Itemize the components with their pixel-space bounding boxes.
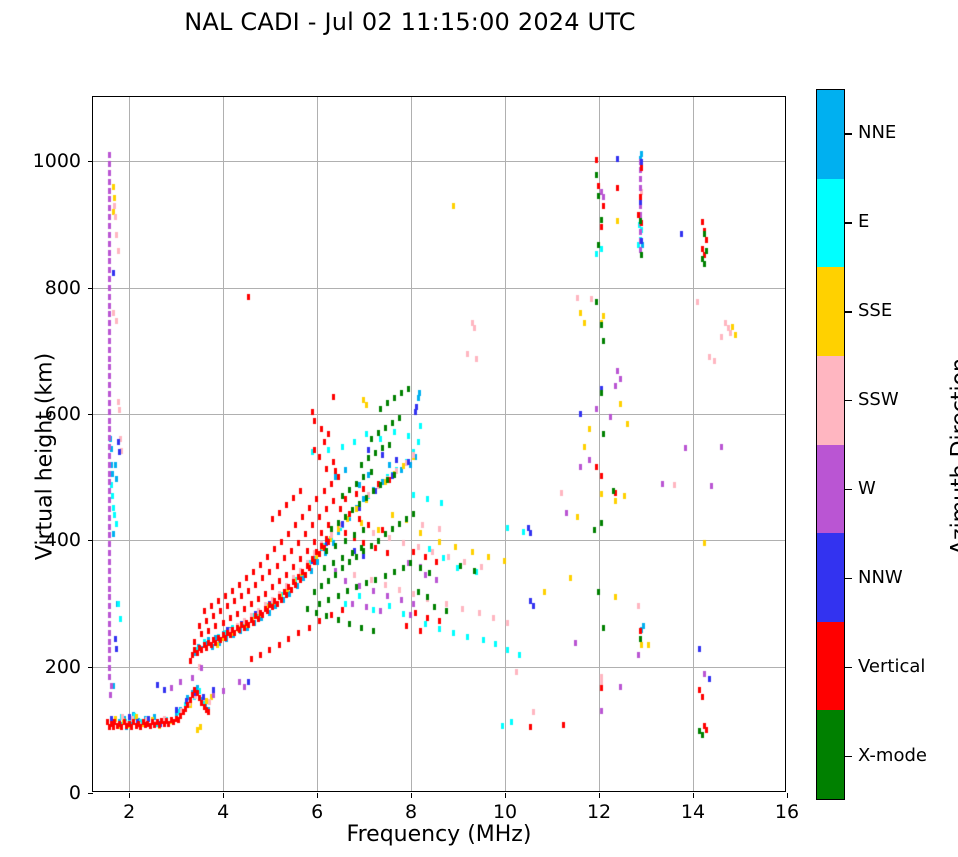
y-tick-label: 0 [0,784,81,803]
x-tick-mark [129,793,130,798]
colorbar-band-sse[interactable] [817,267,844,356]
colorbar-label-e: E [858,211,869,232]
colorbar-label-nnw: NNW [858,567,903,588]
colorbar-band-x-mode[interactable] [817,710,844,799]
colorbar-tick-mark [845,311,852,312]
y-tick-mark [88,161,93,162]
y-tick-label: 1000 [0,152,81,171]
x-tick-label: 4 [193,801,253,823]
y-tick-mark [88,793,93,794]
colorbar-tick-mark [845,667,852,668]
x-tick-mark [411,793,412,798]
colorbar-label-ssw: SSW [858,389,899,410]
x-tick-label: 8 [381,801,441,823]
colorbar-tick-mark [845,133,852,134]
page-title: NAL CADI - Jul 02 11:15:00 2024 UTC [0,8,820,36]
y-tick-mark [88,540,93,541]
x-tick-label: 6 [287,801,347,823]
x-tick-mark [223,793,224,798]
colorbar-label-nne: NNE [858,122,896,143]
y-tick-label: 200 [0,658,81,677]
colorbar-tick-mark [845,222,852,223]
colorbar-tick-mark [845,400,852,401]
colorbar-label-w: W [858,478,876,499]
scatter-data-canvas [93,97,787,793]
x-tick-label: 10 [475,801,535,823]
colorbar-title: Azimuth Direction [948,287,958,627]
colorbar-tick-mark [845,578,852,579]
x-tick-label: 2 [99,801,159,823]
colorbar-band-e[interactable] [817,179,844,268]
colorbar-label-sse: SSE [858,300,892,321]
x-tick-mark [505,793,506,798]
x-tick-label: 12 [569,801,629,823]
x-tick-label: 16 [757,801,817,823]
colorbar-band-vertical[interactable] [817,622,844,711]
x-axis-label: Frequency (MHz) [92,822,786,847]
y-axis-label: Virtual height (km) [33,307,58,607]
colorbar-band-ssw[interactable] [817,356,844,445]
colorbar-band-nnw[interactable] [817,533,844,622]
y-tick-mark [88,414,93,415]
x-tick-mark [693,793,694,798]
colorbar-tick-mark [845,756,852,757]
colorbar-tick-mark [845,489,852,490]
plot-area[interactable]: 24681012141602004006008001000 [92,96,786,792]
x-tick-mark [317,793,318,798]
colorbar-band-w[interactable] [817,445,844,534]
colorbar-band-nne[interactable] [817,90,844,179]
ionogram-figure: NAL CADI - Jul 02 11:15:00 2024 UTC 2468… [0,0,958,857]
x-tick-label: 14 [663,801,723,823]
y-tick-mark [88,288,93,289]
x-tick-mark [599,793,600,798]
colorbar-label-x-mode: X-mode [858,745,927,766]
x-tick-mark [787,793,788,798]
y-tick-label: 800 [0,279,81,298]
colorbar-label-vertical: Vertical [858,656,925,677]
y-tick-mark [88,667,93,668]
colorbar[interactable] [816,89,845,800]
